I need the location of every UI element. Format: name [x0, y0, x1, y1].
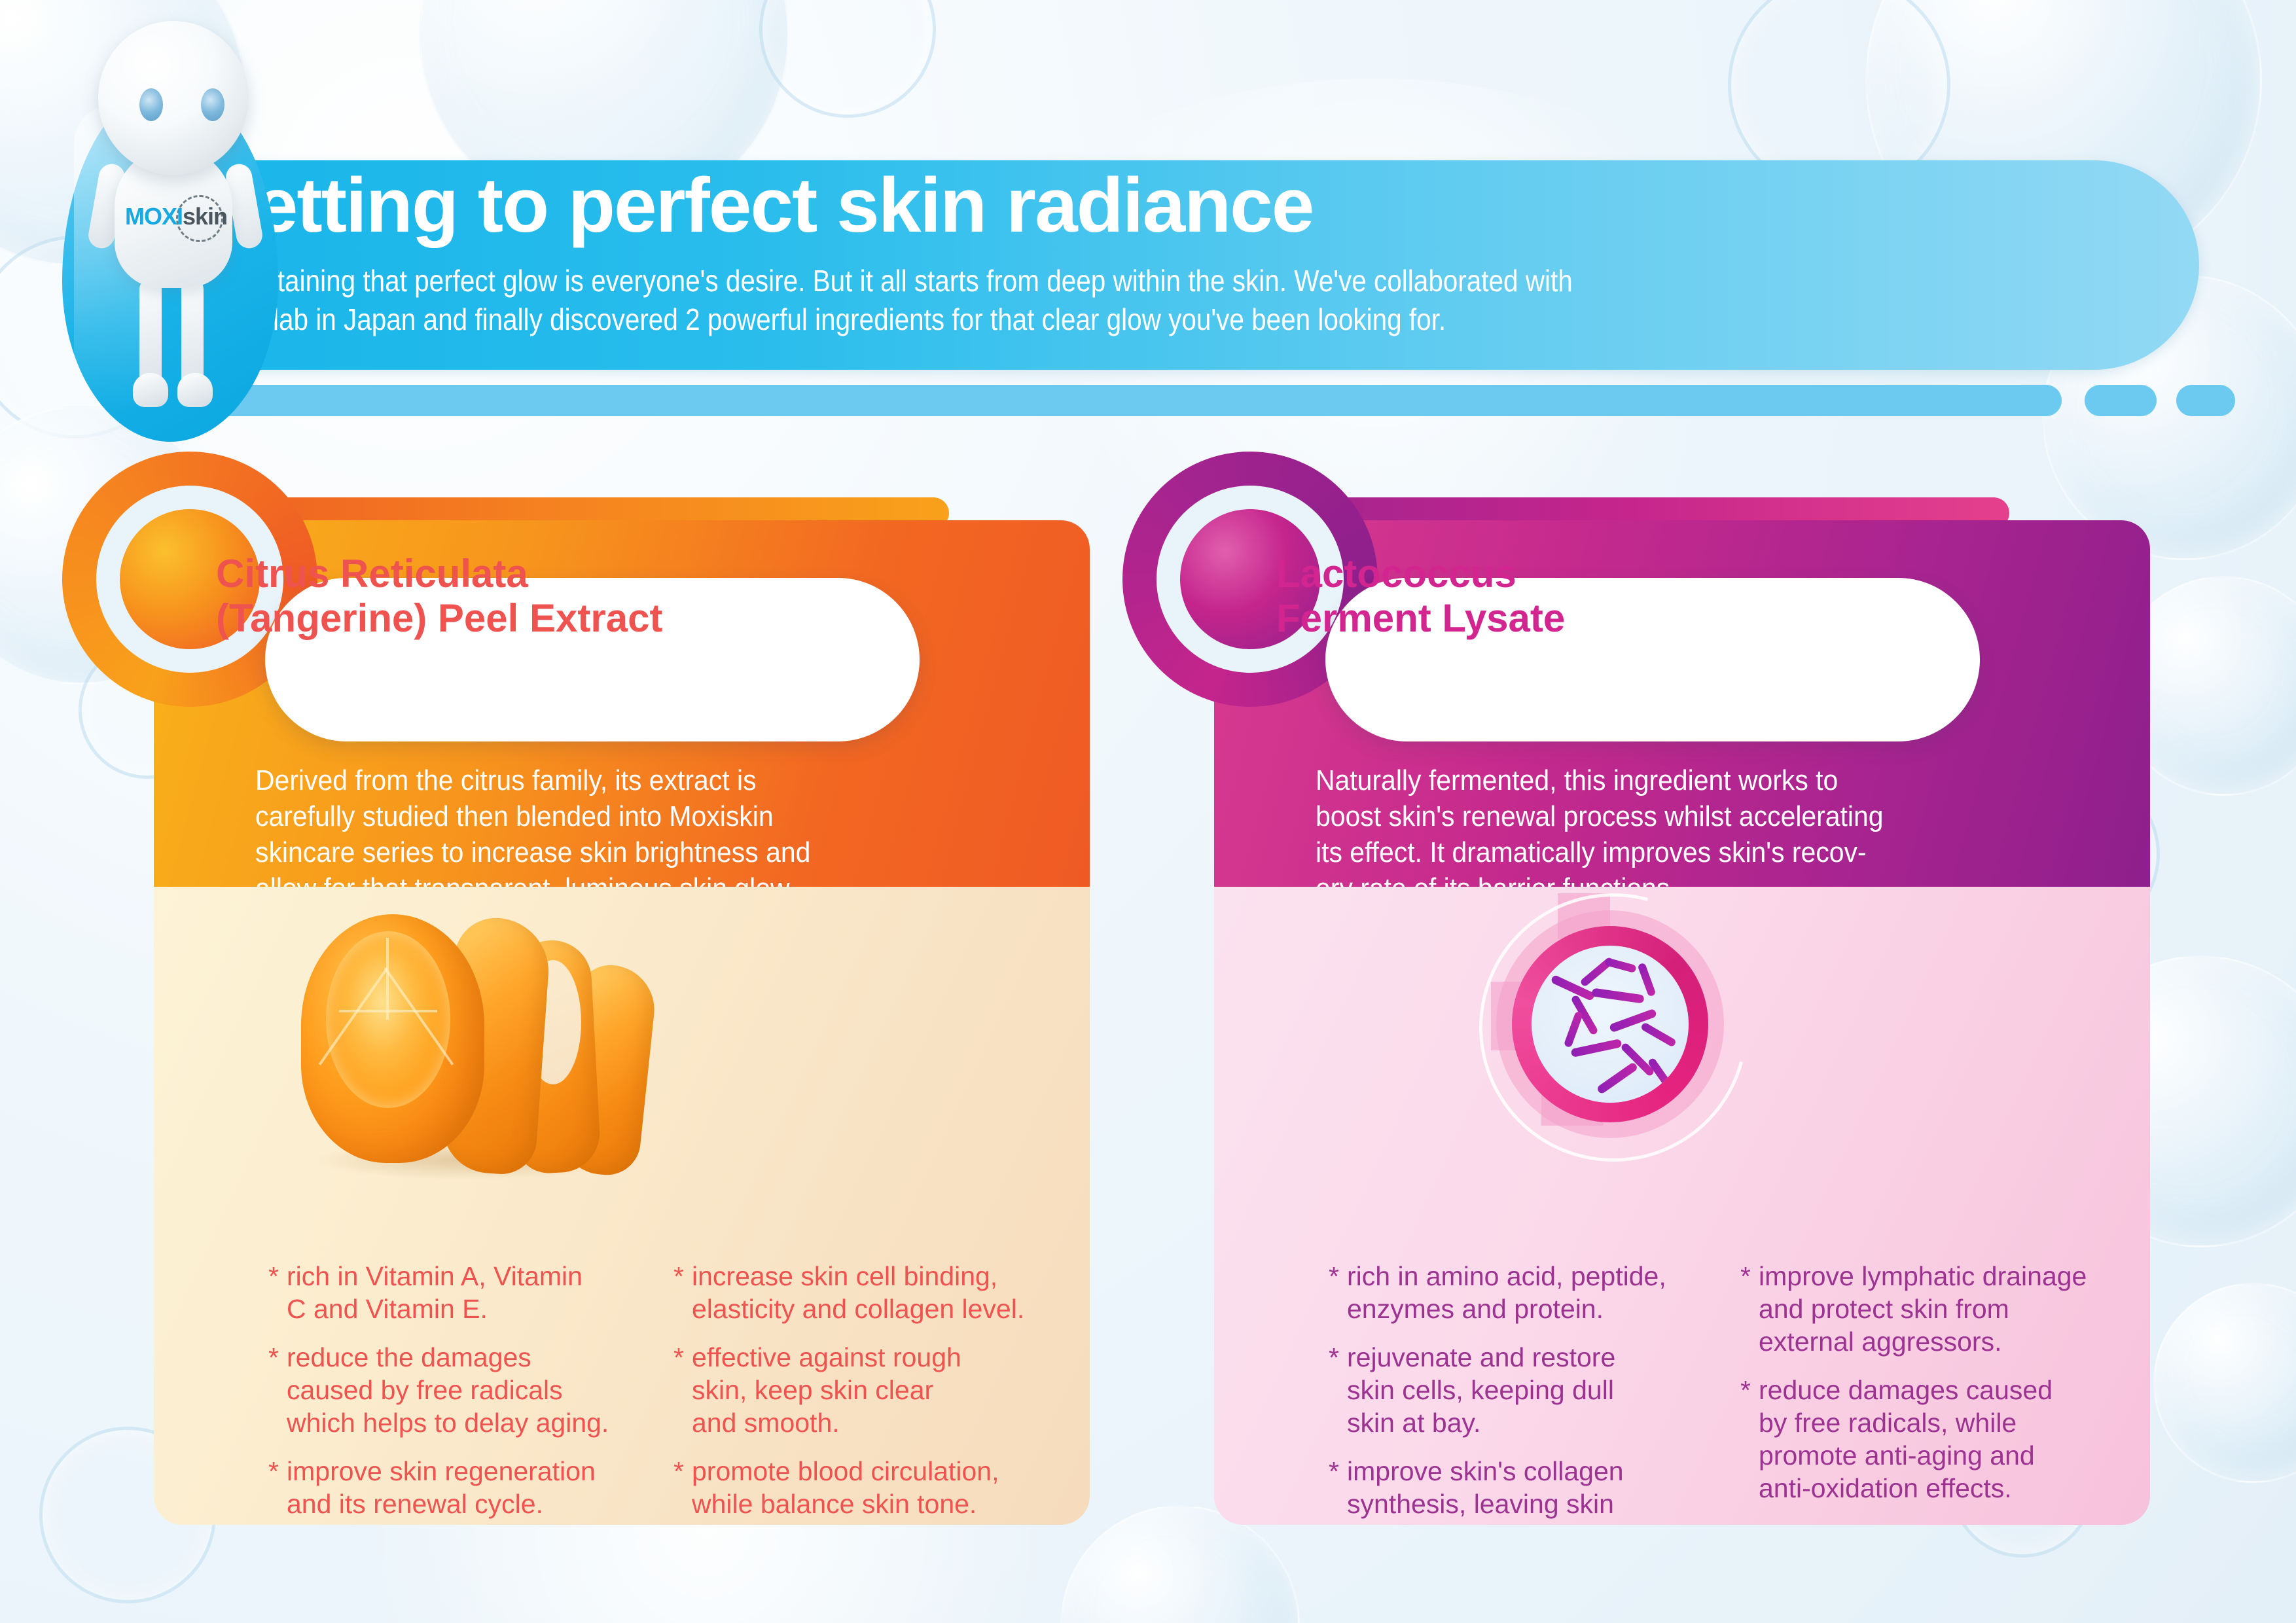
bacteria-rod — [1596, 1061, 1639, 1095]
list-item: *promote blood circulation, while balanc… — [673, 1455, 1054, 1520]
list-item: *rejuvenate and restore skin cells, keep… — [1329, 1341, 1715, 1439]
microscope-slide — [1532, 946, 1689, 1103]
header-accent-bar — [131, 385, 2062, 416]
list-item-text: reduce the damages caused by free radica… — [287, 1341, 649, 1439]
header-accent-dash — [2176, 385, 2235, 416]
bubble — [759, 0, 936, 118]
list-item-text: improve skin renewal process and acceler… — [1759, 1520, 2127, 1525]
bacteria-rod — [1571, 1039, 1623, 1058]
benefit-column-right: *improve lymphatic drainage and protect … — [1740, 1260, 2127, 1525]
bullet-star-icon: * — [1329, 1260, 1347, 1325]
list-item-text: rich in amino acid, peptide, enzymes and… — [1347, 1260, 1715, 1325]
list-item-text: improve skin regeneration and its renewa… — [287, 1455, 649, 1520]
page-subtitle: and obtaining that perfect glow is every… — [196, 262, 1786, 339]
orange-peel-photo — [295, 900, 674, 1175]
benefit-list: *rich in Vitamin A, Vitamin C and Vitami… — [268, 1260, 1054, 1525]
bullet-star-icon: * — [1329, 1341, 1347, 1439]
card-body-panel: *rich in amino acid, peptide, enzymes an… — [1214, 887, 2150, 1525]
orange-flesh — [326, 931, 450, 1108]
mascot-eye — [201, 88, 224, 121]
bacteria-rod — [1640, 1022, 1677, 1047]
bullet-star-icon: * — [268, 1260, 287, 1325]
bullet-star-icon: * — [1740, 1374, 1759, 1505]
list-item: *effective against rough skin, keep skin… — [673, 1341, 1054, 1439]
mascot-head — [98, 21, 249, 175]
list-item: *reduce the damages caused by free radic… — [268, 1341, 649, 1439]
benefit-column-left: *rich in Vitamin A, Vitamin C and Vitami… — [268, 1260, 649, 1525]
list-item: *improve skin's collagen synthesis, leav… — [1329, 1455, 1715, 1525]
bullet-star-icon: * — [1740, 1520, 1759, 1525]
page-title: Getting to perfect skin radiance — [196, 167, 1898, 244]
benefit-column-left: *rich in amino acid, peptide, enzymes an… — [1329, 1260, 1715, 1525]
card-description: Naturally fermented, this ingredient wor… — [1316, 762, 2034, 906]
list-item: *improve lymphatic drainage and protect … — [1740, 1260, 2127, 1358]
bacteria-rod — [1637, 963, 1656, 997]
list-item-text: rich in Vitamin A, Vitamin C and Vitamin… — [287, 1260, 649, 1325]
bacteria-rod — [1564, 1011, 1583, 1048]
list-item-text: increase skin cell binding, elasticity a… — [692, 1260, 1054, 1325]
bullet-star-icon: * — [1329, 1455, 1347, 1525]
ingredient-card-lactococcus: Lactococcus Ferment Lysate Naturally fer… — [1214, 520, 2150, 1525]
logo-moxi-text: MOXI — [125, 203, 183, 230]
list-item: *reduce damages caused by free radicals,… — [1740, 1374, 2127, 1505]
microscope-bacteria-photo — [1479, 893, 1741, 1155]
benefit-list: *rich in amino acid, peptide, enzymes an… — [1329, 1260, 2127, 1525]
bullet-star-icon: * — [268, 1455, 287, 1520]
logo-wordmark: MOXIskin — [125, 203, 227, 230]
list-item-text: improve skin's collagen synthesis, leavi… — [1347, 1455, 1715, 1525]
orange-segment-line — [386, 938, 389, 1020]
logo-skin-text: skin — [183, 203, 227, 230]
card-title: Citrus Reticulata (Tangerine) Peel Extra… — [216, 552, 779, 641]
bullet-star-icon: * — [1740, 1260, 1759, 1358]
header-accent-dash — [2085, 385, 2157, 416]
mascot-character: MOXIskin — [62, 7, 298, 438]
list-item: *improve skin regeneration and its renew… — [268, 1455, 649, 1520]
orange-segment-line — [384, 967, 454, 1065]
bullet-star-icon: * — [673, 1341, 692, 1439]
mascot-foot — [177, 373, 213, 407]
card-title: Lactococcus Ferment Lysate — [1276, 552, 1839, 641]
card-description: Derived from the citrus family, its extr… — [255, 762, 973, 906]
bullet-star-icon: * — [268, 1341, 287, 1439]
list-item-text: improve lymphatic drainage and protect s… — [1759, 1260, 2127, 1358]
benefit-column-right: *increase skin cell binding, elasticity … — [673, 1260, 1054, 1525]
list-item: *rich in Vitamin A, Vitamin C and Vitami… — [268, 1260, 649, 1325]
bubble — [2153, 1283, 2296, 1483]
bacteria-rod — [1604, 957, 1636, 973]
list-item-text: reduce damages caused by free radicals, … — [1759, 1374, 2127, 1505]
mascot-eye — [139, 88, 163, 121]
list-item: *increase skin cell binding, elasticity … — [673, 1260, 1054, 1325]
mascot-foot — [133, 373, 168, 407]
moxiskin-logo: MOXIskin — [125, 196, 230, 237]
list-item-text: rejuvenate and restore skin cells, keepi… — [1347, 1341, 1715, 1439]
bacteria-rod — [1591, 988, 1644, 1003]
list-item: *rich in amino acid, peptide, enzymes an… — [1329, 1260, 1715, 1325]
ingredient-card-citrus: Citrus Reticulata (Tangerine) Peel Extra… — [154, 520, 1090, 1525]
bullet-star-icon: * — [673, 1455, 692, 1520]
list-item-text: effective against rough skin, keep skin … — [692, 1341, 1054, 1439]
list-item: *improve skin renewal process and accele… — [1740, 1520, 2127, 1525]
list-item-text: promote blood circulation, while balance… — [692, 1455, 1054, 1520]
card-body-panel: *rich in Vitamin A, Vitamin C and Vitami… — [154, 887, 1090, 1525]
bullet-star-icon: * — [673, 1260, 692, 1325]
